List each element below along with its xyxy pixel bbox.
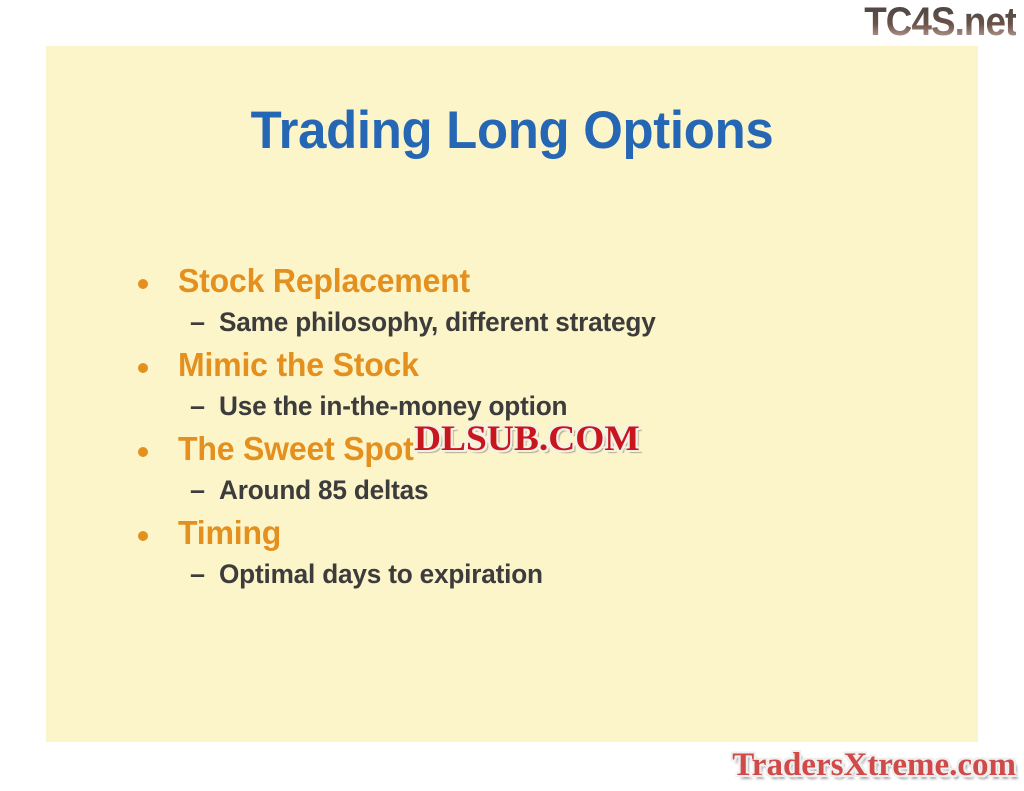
- site-logo-tc4s: TC4S.net: [864, 2, 1016, 42]
- bullet-dot-icon: [138, 447, 148, 457]
- bullet-label: Stock Replacement: [178, 261, 470, 301]
- bullet-item-stock-replacement: Stock Replacement: [86, 261, 946, 305]
- bullet-group: Stock Replacement – Same philosophy, dif…: [86, 261, 946, 345]
- bullet-group: Timing – Optimal days to expiration: [86, 513, 946, 597]
- bullet-dot-icon: [138, 279, 148, 289]
- subbullet-item-same-philosophy: – Same philosophy, different strategy: [86, 305, 946, 343]
- subbullet-dash-icon: –: [190, 305, 205, 339]
- subbullet-item-optimal-days-to-expiration: – Optimal days to expiration: [86, 557, 946, 595]
- subbullet-item-around-85-deltas: – Around 85 deltas: [86, 473, 946, 511]
- bullet-item-timing: Timing: [86, 513, 946, 557]
- subbullet-dash-icon: –: [190, 557, 205, 591]
- subbullet-dash-icon: –: [190, 389, 205, 423]
- bullet-dot-icon: [138, 531, 148, 541]
- bullet-label: Mimic the Stock: [178, 345, 419, 385]
- bullet-item-mimic-the-stock: Mimic the Stock: [86, 345, 946, 389]
- bullet-label: The Sweet Spot: [178, 429, 414, 469]
- slide-title: Trading Long Options: [65, 104, 960, 157]
- watermark-dlsub: DLSUB.COM: [414, 418, 640, 458]
- bullet-label: Timing: [178, 513, 281, 553]
- subbullet-label: Same philosophy, different strategy: [219, 305, 656, 339]
- subbullet-label: Around 85 deltas: [219, 473, 428, 507]
- bullet-group: Mimic the Stock – Use the in-the-money o…: [86, 345, 946, 429]
- subbullet-dash-icon: –: [190, 473, 205, 507]
- subbullet-label: Optimal days to expiration: [219, 557, 543, 591]
- bullet-dot-icon: [138, 363, 148, 373]
- watermark-tradersxtreme: TradersXtreme.com: [732, 747, 1016, 783]
- slide-canvas: Trading Long Options Stock Replacement –…: [46, 46, 978, 742]
